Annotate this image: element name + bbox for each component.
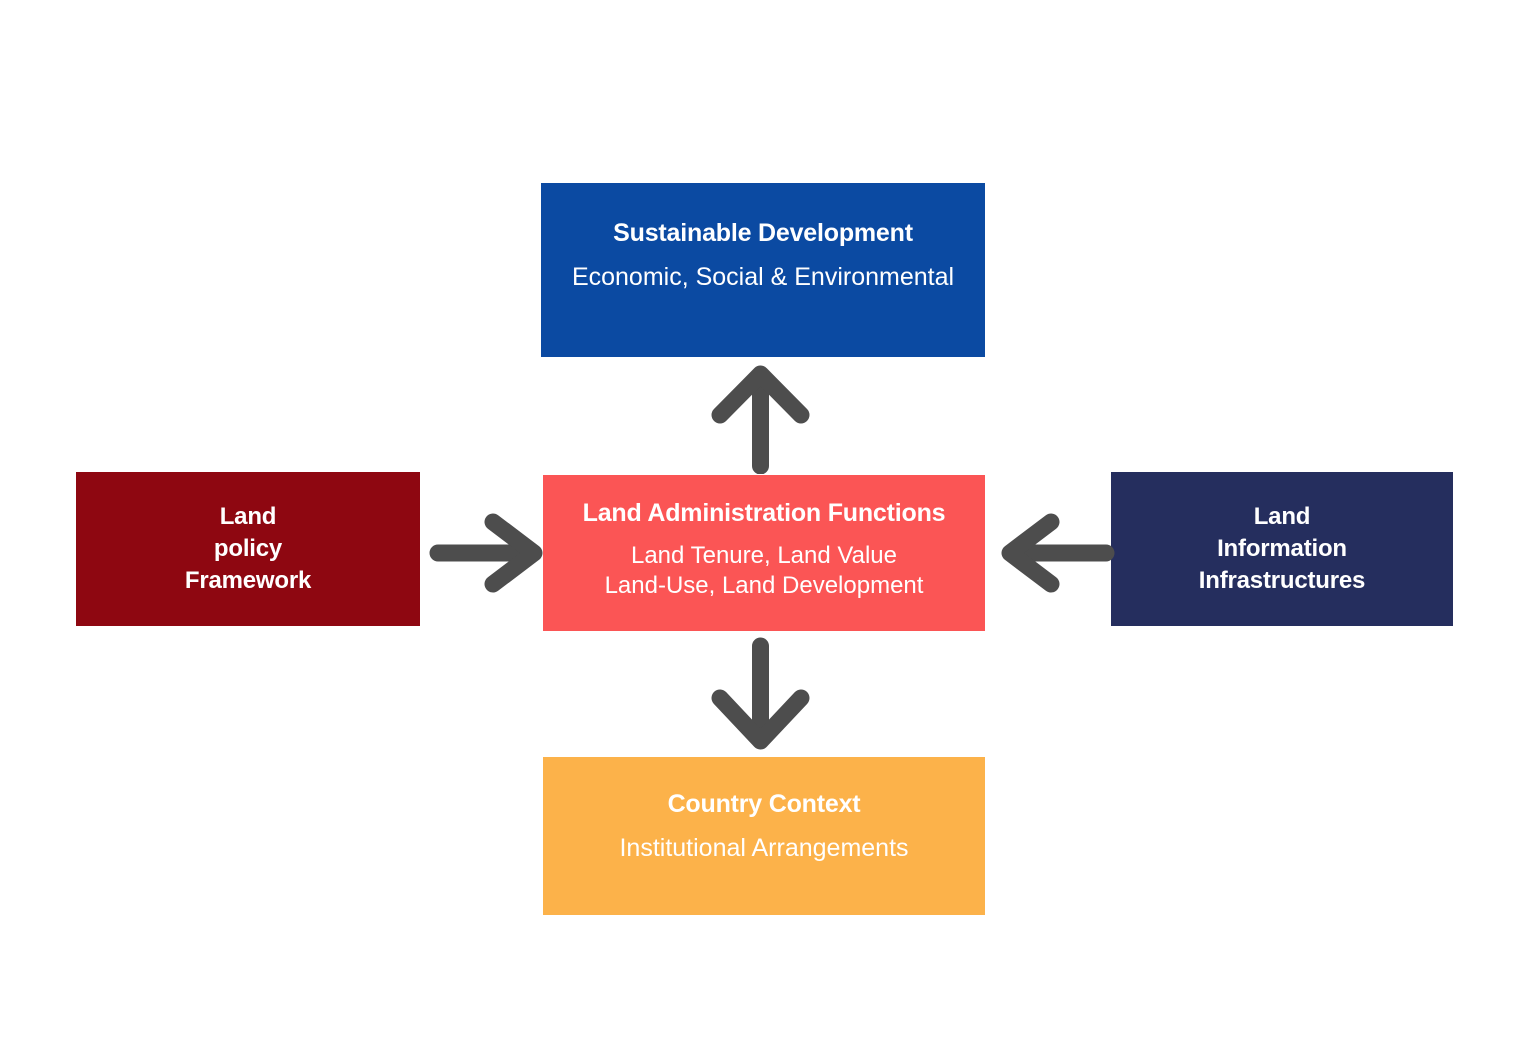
node-country-context[interactable]: Country Context Institutional Arrangemen… — [543, 757, 985, 915]
node-land-policy-framework-line2: policy — [185, 533, 311, 565]
node-land-policy-framework-title: Land policy Framework — [185, 501, 311, 597]
node-sustainable-development-title: Sustainable Development — [613, 219, 913, 248]
node-land-information-infrastructures-line3: Infrastructures — [1199, 565, 1365, 597]
node-land-policy-framework[interactable]: Land policy Framework — [76, 472, 420, 626]
arrow-right-icon — [428, 512, 544, 594]
node-land-policy-framework-line1: Land — [185, 501, 311, 533]
node-land-administration-functions-title: Land Administration Functions — [583, 499, 946, 528]
node-sustainable-development-subtitle: Economic, Social & Environmental — [572, 262, 954, 293]
node-country-context-title: Country Context — [668, 790, 861, 819]
diagram-canvas: Sustainable Development Economic, Social… — [0, 0, 1536, 1047]
node-land-administration-functions[interactable]: Land Administration Functions Land Tenur… — [543, 475, 985, 631]
arrow-left-icon — [1000, 512, 1116, 594]
node-land-information-infrastructures-title: Land Information Infrastructures — [1199, 501, 1365, 597]
node-country-context-subtitle: Institutional Arrangements — [619, 833, 908, 864]
arrow-down-icon — [703, 632, 818, 754]
node-land-administration-functions-subtitle-line1: Land Tenure, Land Value — [605, 541, 924, 571]
node-land-information-infrastructures-line1: Land — [1199, 501, 1365, 533]
node-land-administration-functions-subtitle: Land Tenure, Land Value Land-Use, Land D… — [605, 541, 924, 601]
node-land-information-infrastructures[interactable]: Land Information Infrastructures — [1111, 472, 1453, 626]
node-land-administration-functions-subtitle-line2: Land-Use, Land Development — [605, 571, 924, 601]
node-land-policy-framework-line3: Framework — [185, 565, 311, 597]
node-land-information-infrastructures-line2: Information — [1199, 533, 1365, 565]
arrow-up-icon — [703, 362, 818, 474]
node-sustainable-development[interactable]: Sustainable Development Economic, Social… — [541, 183, 985, 357]
